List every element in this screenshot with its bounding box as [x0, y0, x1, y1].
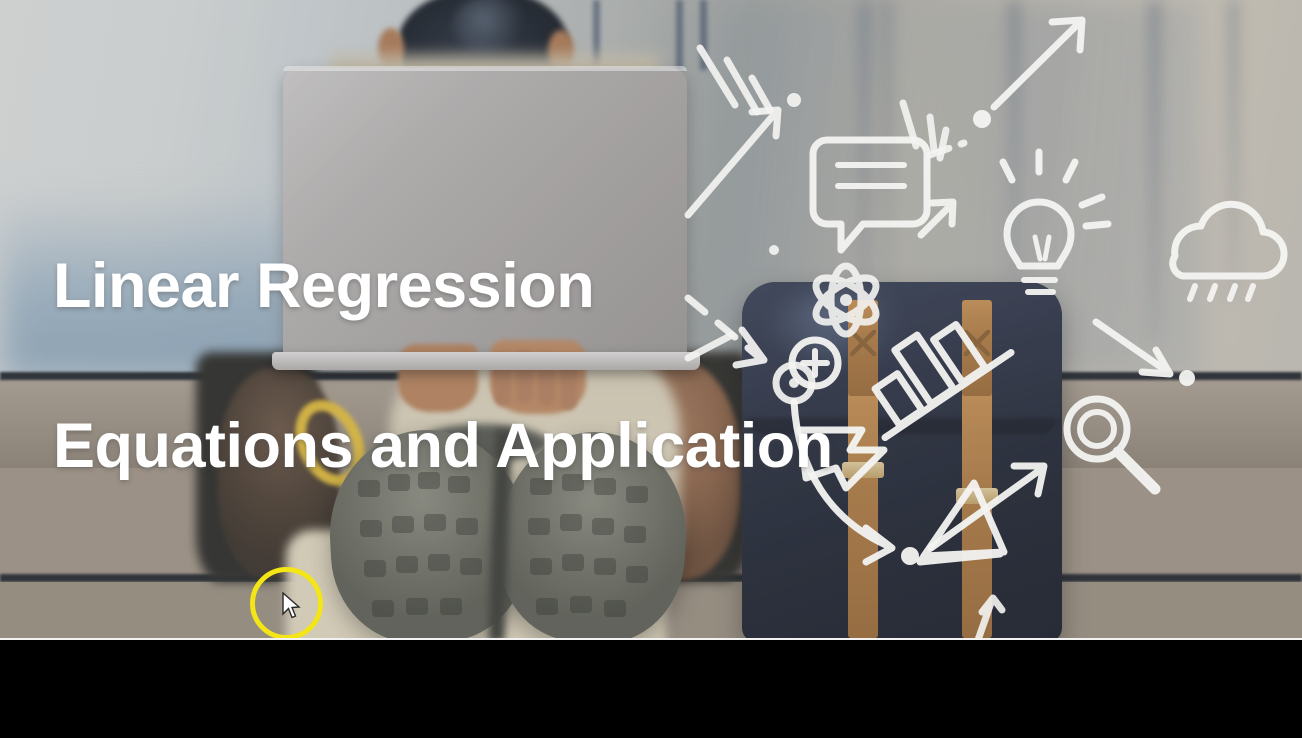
- shoe-tread: [372, 600, 394, 617]
- shoe-tread: [406, 598, 428, 615]
- backpack-strap-stitch: [850, 330, 876, 356]
- slide-footer: KNEWTON alta Copyright © 2018 Knewton, I…: [0, 640, 1302, 738]
- window-mullion: [700, 0, 707, 70]
- backpack-strap-stitch: [964, 330, 990, 356]
- slide-title-line-1: Linear Regression: [53, 246, 833, 326]
- background-tree: [884, 0, 890, 300]
- slide: Linear Regression Equations and Applicat…: [0, 0, 1302, 738]
- background-tree: [1230, 0, 1237, 300]
- backpack-buckle: [842, 462, 884, 478]
- background-tree: [1150, 0, 1159, 340]
- slide-background-photo: Linear Regression Equations and Applicat…: [0, 0, 1302, 640]
- slide-title-line-2: Equations and Application: [53, 406, 833, 486]
- background-tree: [860, 0, 869, 330]
- backpack-buckle: [956, 488, 998, 504]
- laptop-lid-edge: [283, 66, 687, 71]
- background-tree: [1010, 0, 1019, 280]
- backpack-strap: [848, 388, 878, 638]
- slide-title: Linear Regression Equations and Applicat…: [53, 166, 833, 566]
- shoe-tread: [570, 596, 592, 613]
- shoe-tread: [536, 598, 558, 615]
- mouse-pointer-icon: [281, 592, 301, 620]
- window-mullion: [676, 0, 683, 70]
- shoe-tread: [440, 598, 462, 615]
- shoe-tread: [604, 600, 626, 617]
- backpack-strap: [962, 388, 992, 638]
- shoe-tread: [626, 566, 648, 583]
